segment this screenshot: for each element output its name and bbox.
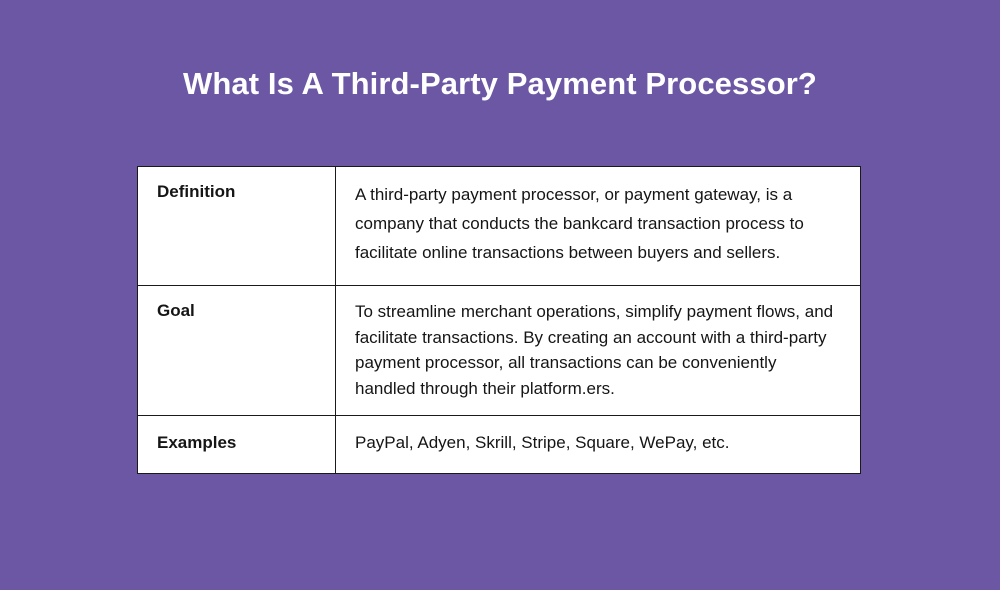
definition-table: Definition A third-party payment process…	[137, 166, 861, 474]
table-row: Definition A third-party payment process…	[138, 167, 861, 286]
table-row: Goal To streamline merchant operations, …	[138, 286, 861, 416]
table-row-value: A third-party payment processor, or paym…	[336, 167, 861, 286]
table-row-label: Definition	[138, 167, 336, 286]
infographic-page: What Is A Third-Party Payment Processor?…	[0, 0, 1000, 590]
table-row: Examples PayPal, Adyen, Skrill, Stripe, …	[138, 416, 861, 474]
page-title: What Is A Third-Party Payment Processor?	[0, 64, 1000, 104]
table-row-label: Goal	[138, 286, 336, 416]
table-row-value: To streamline merchant operations, simpl…	[336, 286, 861, 416]
table-body: Definition A third-party payment process…	[138, 167, 861, 474]
table-row-value: PayPal, Adyen, Skrill, Stripe, Square, W…	[336, 416, 861, 474]
table-row-label: Examples	[138, 416, 336, 474]
